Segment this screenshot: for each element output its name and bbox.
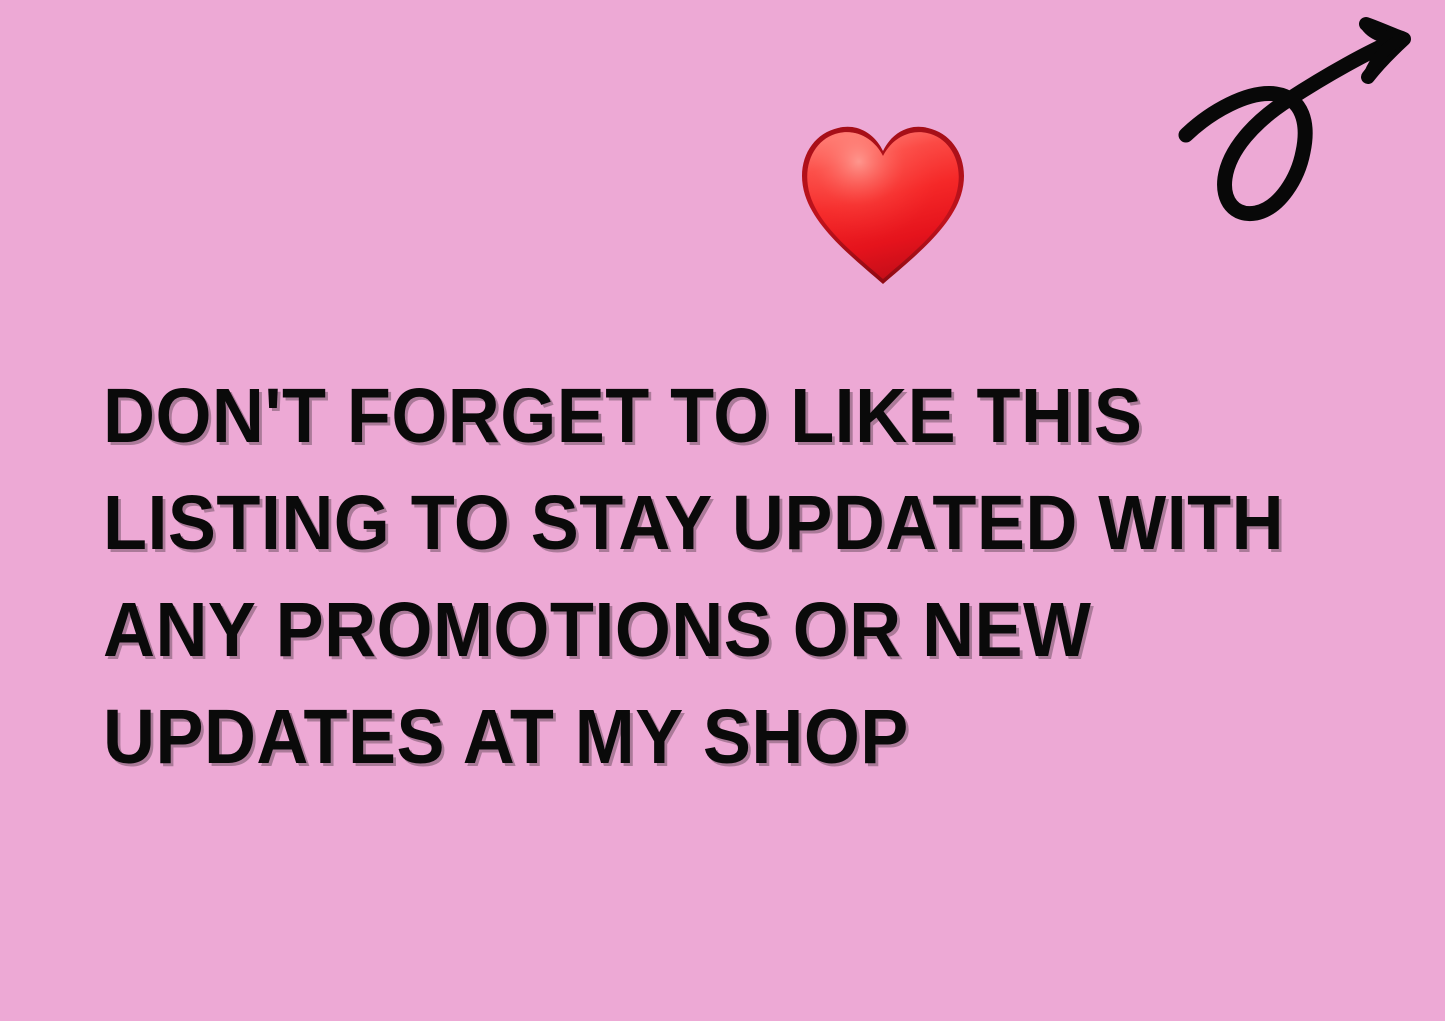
promo-line-4: UPDATES AT MY SHOP [103, 684, 1309, 791]
curly-arrow-doodle-icon [1170, 8, 1420, 223]
promo-message-text: DON'T FORGET TO LIKE THIS LISTING TO STA… [103, 363, 1393, 791]
red-heart-emoji-icon [798, 122, 968, 288]
promotional-graphic: DON'T FORGET TO LIKE THIS LISTING TO STA… [0, 0, 1445, 1021]
promo-line-3: ANY PROMOTIONS OR NEW [103, 577, 1309, 684]
promo-line-1: DON'T FORGET TO LIKE THIS [103, 363, 1309, 470]
promo-line-2: LISTING TO STAY UPDATED WITH [103, 470, 1309, 577]
